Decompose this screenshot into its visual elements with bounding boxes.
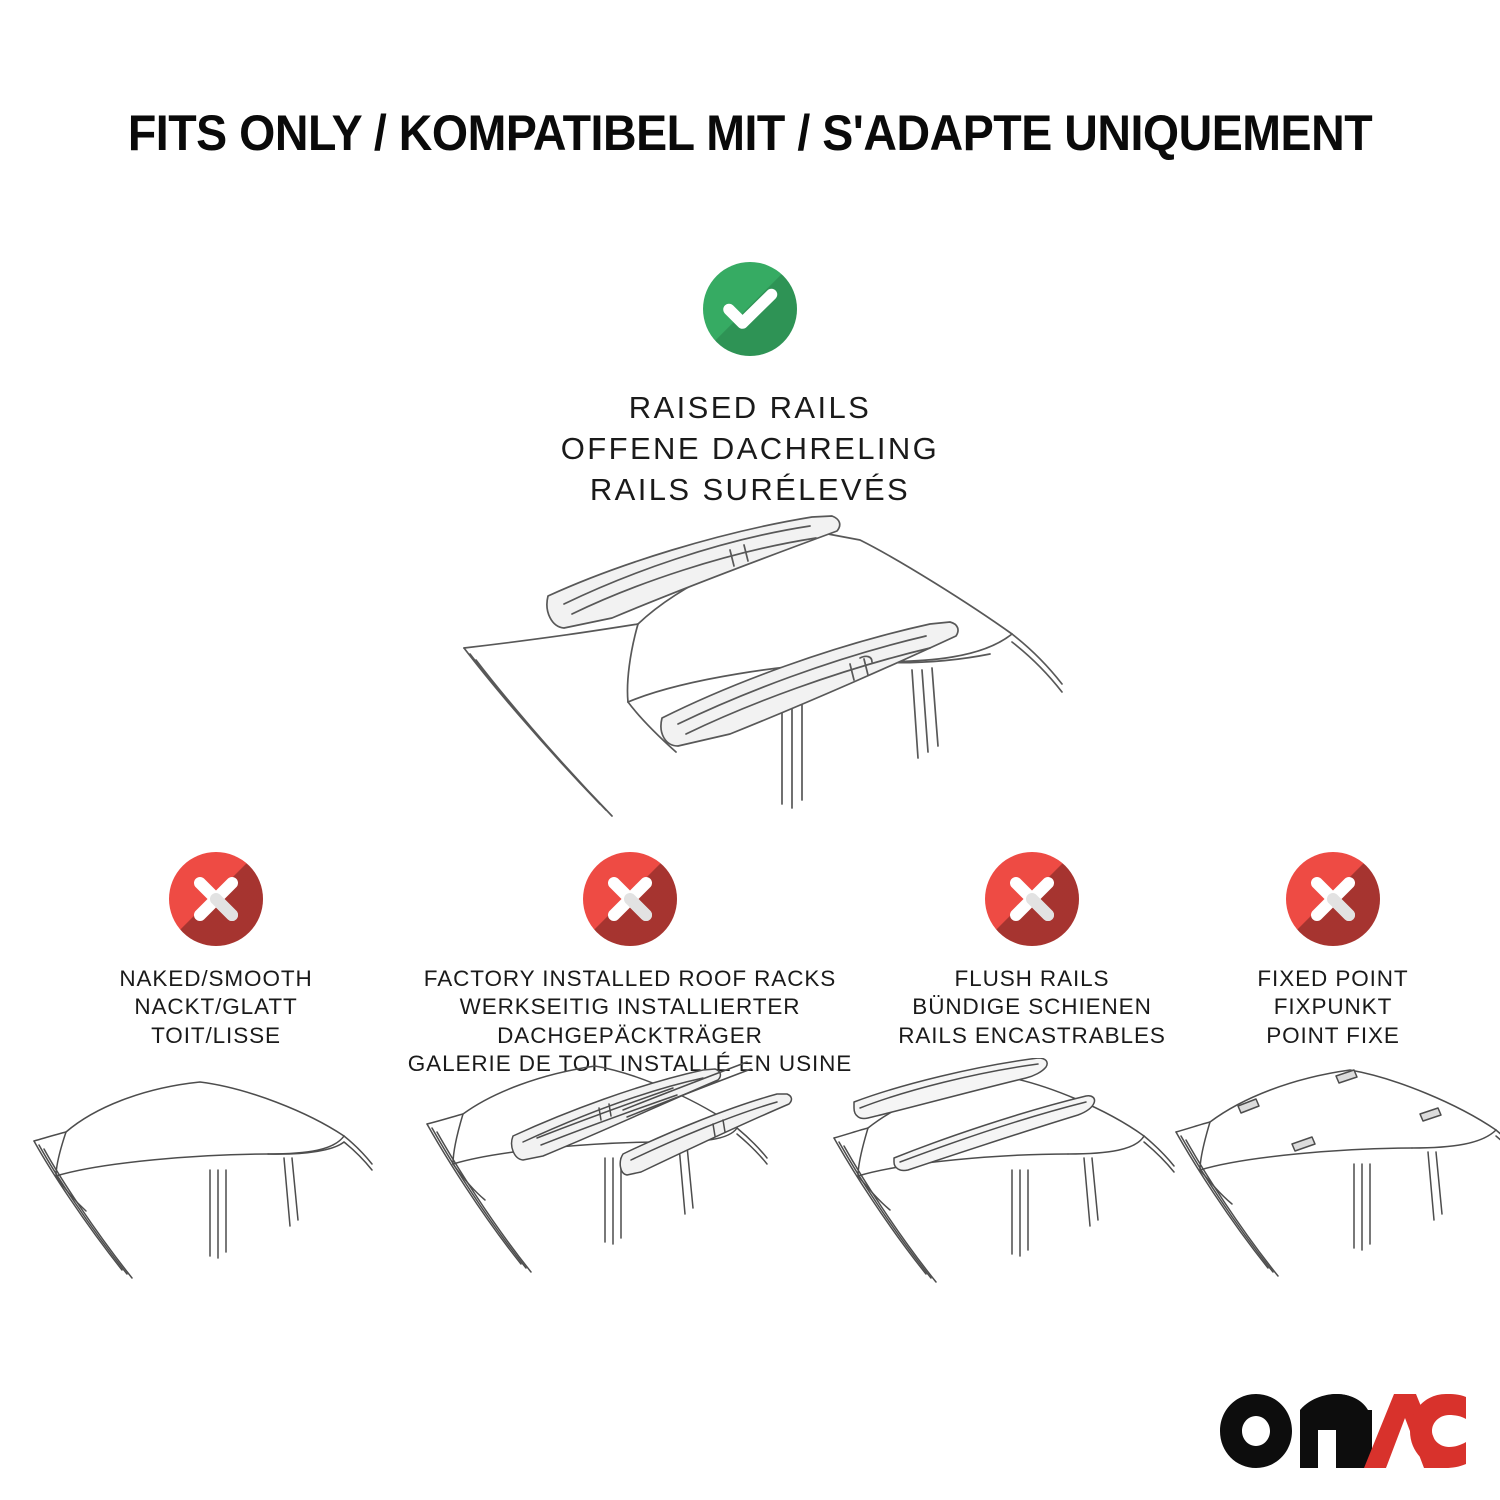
incompatible-label-de-2: DACHGEPÄCKTRÄGER	[380, 1022, 880, 1050]
compatible-label-de: OFFENE DACHRELING	[0, 428, 1500, 469]
incompatible-label-fr: TOIT/LISSE	[16, 1022, 416, 1050]
cross-circle-icon	[169, 852, 263, 946]
car-roof-raised-rails-illustration	[430, 512, 1070, 822]
compatible-label-en: RAISED RAILS	[0, 387, 1500, 428]
compatible-labels: RAISED RAILS OFFENE DACHRELING RAILS SUR…	[0, 387, 1500, 511]
incompatible-label-en: NAKED/SMOOTH	[16, 965, 416, 993]
incompatible-section: NAKED/SMOOTH NACKT/GLATT TOIT/LISSE FACT…	[0, 852, 1500, 1052]
incompatible-label-de: NACKT/GLATT	[16, 993, 416, 1021]
compatible-label-fr: RAILS SURÉLEVÉS	[0, 469, 1500, 510]
incompatible-label-de-1: WERKSEITIG INSTALLIERTER	[380, 993, 880, 1021]
car-roof-naked-smooth-illustration	[22, 1058, 412, 1318]
car-roof-fixed-point-illustration	[1140, 1058, 1500, 1318]
car-roof-factory-racks-illustration	[415, 1058, 805, 1318]
incompatible-labels: NAKED/SMOOTH NACKT/GLATT TOIT/LISSE	[16, 965, 416, 1050]
logo-letter-m-notch	[1318, 1430, 1336, 1468]
incompatible-item-fixed-point: FIXED POINT FIXPUNKT POINT FIXE	[1163, 852, 1500, 1050]
incompatible-label-de: FIXPUNKT	[1163, 993, 1500, 1021]
compatible-section: RAISED RAILS OFFENE DACHRELING RAILS SUR…	[0, 262, 1500, 511]
cross-circle-icon	[1286, 852, 1380, 946]
cross-circle-icon	[985, 852, 1079, 946]
omac-logo	[1218, 1394, 1468, 1472]
incompatible-illustrations	[0, 1058, 1500, 1318]
incompatible-label-en: FACTORY INSTALLED ROOF RACKS	[380, 965, 880, 993]
logo-letter-o	[1220, 1394, 1292, 1468]
fitment-infographic: FITS ONLY / KOMPATIBEL MIT / S'ADAPTE UN…	[0, 0, 1500, 1500]
page-title: FITS ONLY / KOMPATIBEL MIT / S'ADAPTE UN…	[53, 104, 1448, 162]
incompatible-item-factory-racks: FACTORY INSTALLED ROOF RACKS WERKSEITIG …	[380, 852, 880, 1078]
incompatible-label-fr: POINT FIXE	[1163, 1022, 1500, 1050]
cross-circle-icon	[583, 852, 677, 946]
logo-letter-a-counter	[1386, 1456, 1416, 1468]
incompatible-labels: FIXED POINT FIXPUNKT POINT FIXE	[1163, 965, 1500, 1050]
check-circle-icon	[703, 262, 797, 356]
incompatible-item-naked-smooth: NAKED/SMOOTH NACKT/GLATT TOIT/LISSE	[16, 852, 416, 1050]
incompatible-label-en: FIXED POINT	[1163, 965, 1500, 993]
